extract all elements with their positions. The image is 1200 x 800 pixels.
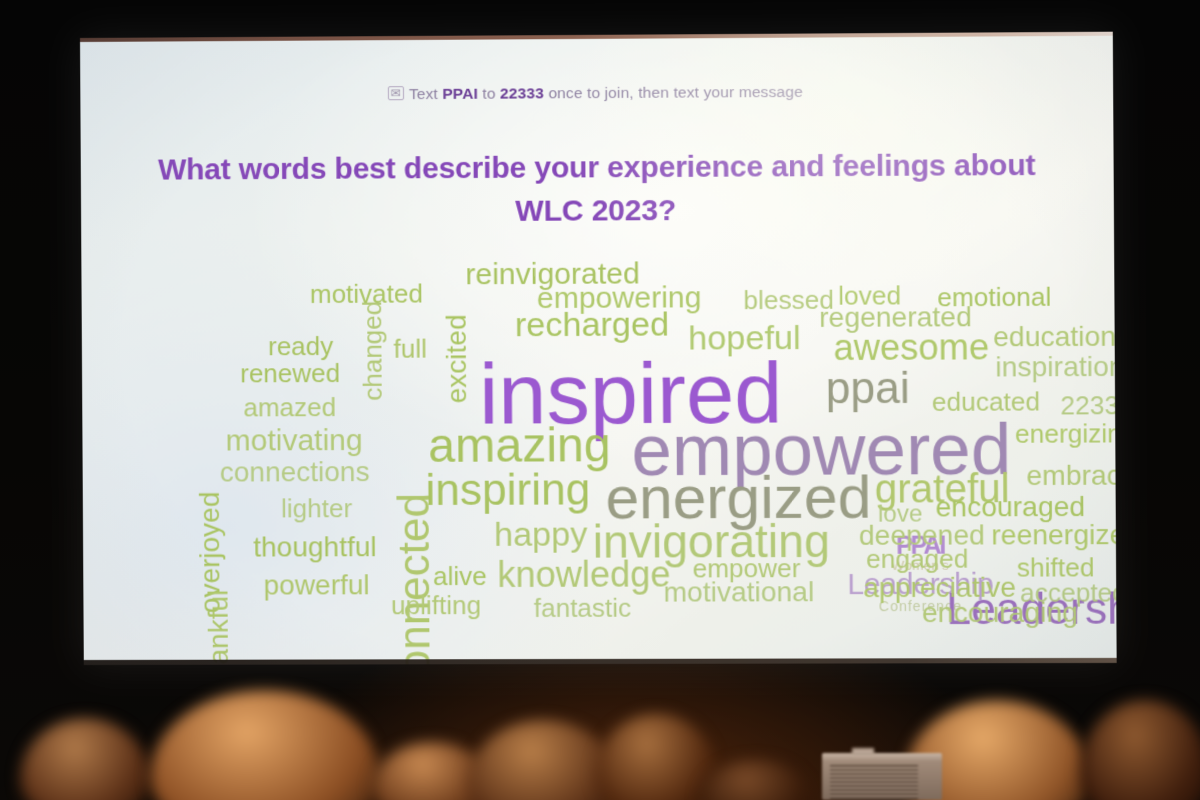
cloud-word: accepted — [1020, 581, 1117, 605]
cloud-word: motivating — [226, 427, 363, 455]
cloud-word: amazed — [243, 396, 336, 420]
cloud-word: loved — [838, 284, 901, 308]
cloud-word: changed — [361, 301, 386, 401]
cloud-word: alive — [433, 565, 487, 589]
photo-of-projected-slide: ✉Text PPAI to 22333 once to join, then t… — [0, 0, 1200, 800]
cloud-word: connections — [220, 459, 370, 485]
join-middle: to — [482, 86, 495, 103]
join-suffix: once to join, then text your message — [548, 84, 803, 103]
cloud-word: 22333 — [1060, 394, 1116, 418]
cloud-word: ready — [268, 335, 333, 359]
cloud-word: hopeful — [688, 323, 801, 355]
cloud-word: engaged — [866, 548, 968, 572]
cloud-word: awesome — [833, 330, 989, 364]
word-cloud: PPAI Women's Leadership Conference inspi… — [81, 229, 1116, 654]
cloud-word: thankful — [205, 590, 231, 665]
cloud-word: emotional — [937, 286, 1051, 311]
join-instruction-bar: ✉Text PPAI to 22333 once to join, then t… — [80, 82, 1113, 106]
cloud-word: reinvigorated — [465, 260, 640, 288]
cloud-word: renewed — [240, 362, 340, 386]
cloud-word: amazing — [428, 424, 611, 469]
join-shortcode: 22333 — [500, 85, 544, 102]
sms-message-icon: ✉ — [388, 86, 404, 100]
cloud-word: reenergized — [991, 522, 1116, 548]
cloud-word: blessed — [743, 289, 834, 313]
cloud-word: energizing — [1015, 422, 1117, 446]
slide-question: What words best describe your experience… — [135, 145, 1060, 235]
join-keyword: PPAI — [442, 86, 478, 103]
projection-screen: ✉Text PPAI to 22333 once to join, then t… — [80, 32, 1117, 665]
cloud-word: happy — [494, 520, 587, 552]
cloud-word: motivated — [310, 282, 423, 306]
join-prefix: Text — [409, 86, 438, 103]
cloud-word: full — [393, 338, 427, 362]
speaker-cabinet-top — [852, 748, 874, 756]
cloud-word: uplifting — [391, 594, 481, 618]
cloud-word: empower — [693, 557, 801, 581]
cloud-word: lighter — [281, 497, 352, 521]
cloud-word: excited — [444, 314, 470, 403]
cloud-word: embraced — [1026, 462, 1116, 488]
cloud-word: ppai — [826, 369, 910, 410]
cloud-word: love — [878, 503, 923, 525]
cloud-word: educated — [932, 390, 1040, 414]
cloud-word: inspirational — [995, 354, 1116, 381]
cloud-word: fantastic — [534, 597, 632, 621]
speaker-cabinet — [822, 753, 942, 800]
cloud-word: encouraged — [935, 494, 1085, 520]
cloud-word: connected — [394, 493, 436, 665]
cloud-word: powerful — [263, 572, 369, 598]
cloud-word: inspiring — [425, 470, 590, 511]
cloud-word: knowledge — [497, 557, 670, 591]
cloud-word: educational — [993, 324, 1117, 351]
cloud-word: thoughtful — [253, 534, 377, 560]
slide-content: ✉Text PPAI to 22333 once to join, then t… — [80, 32, 1117, 665]
